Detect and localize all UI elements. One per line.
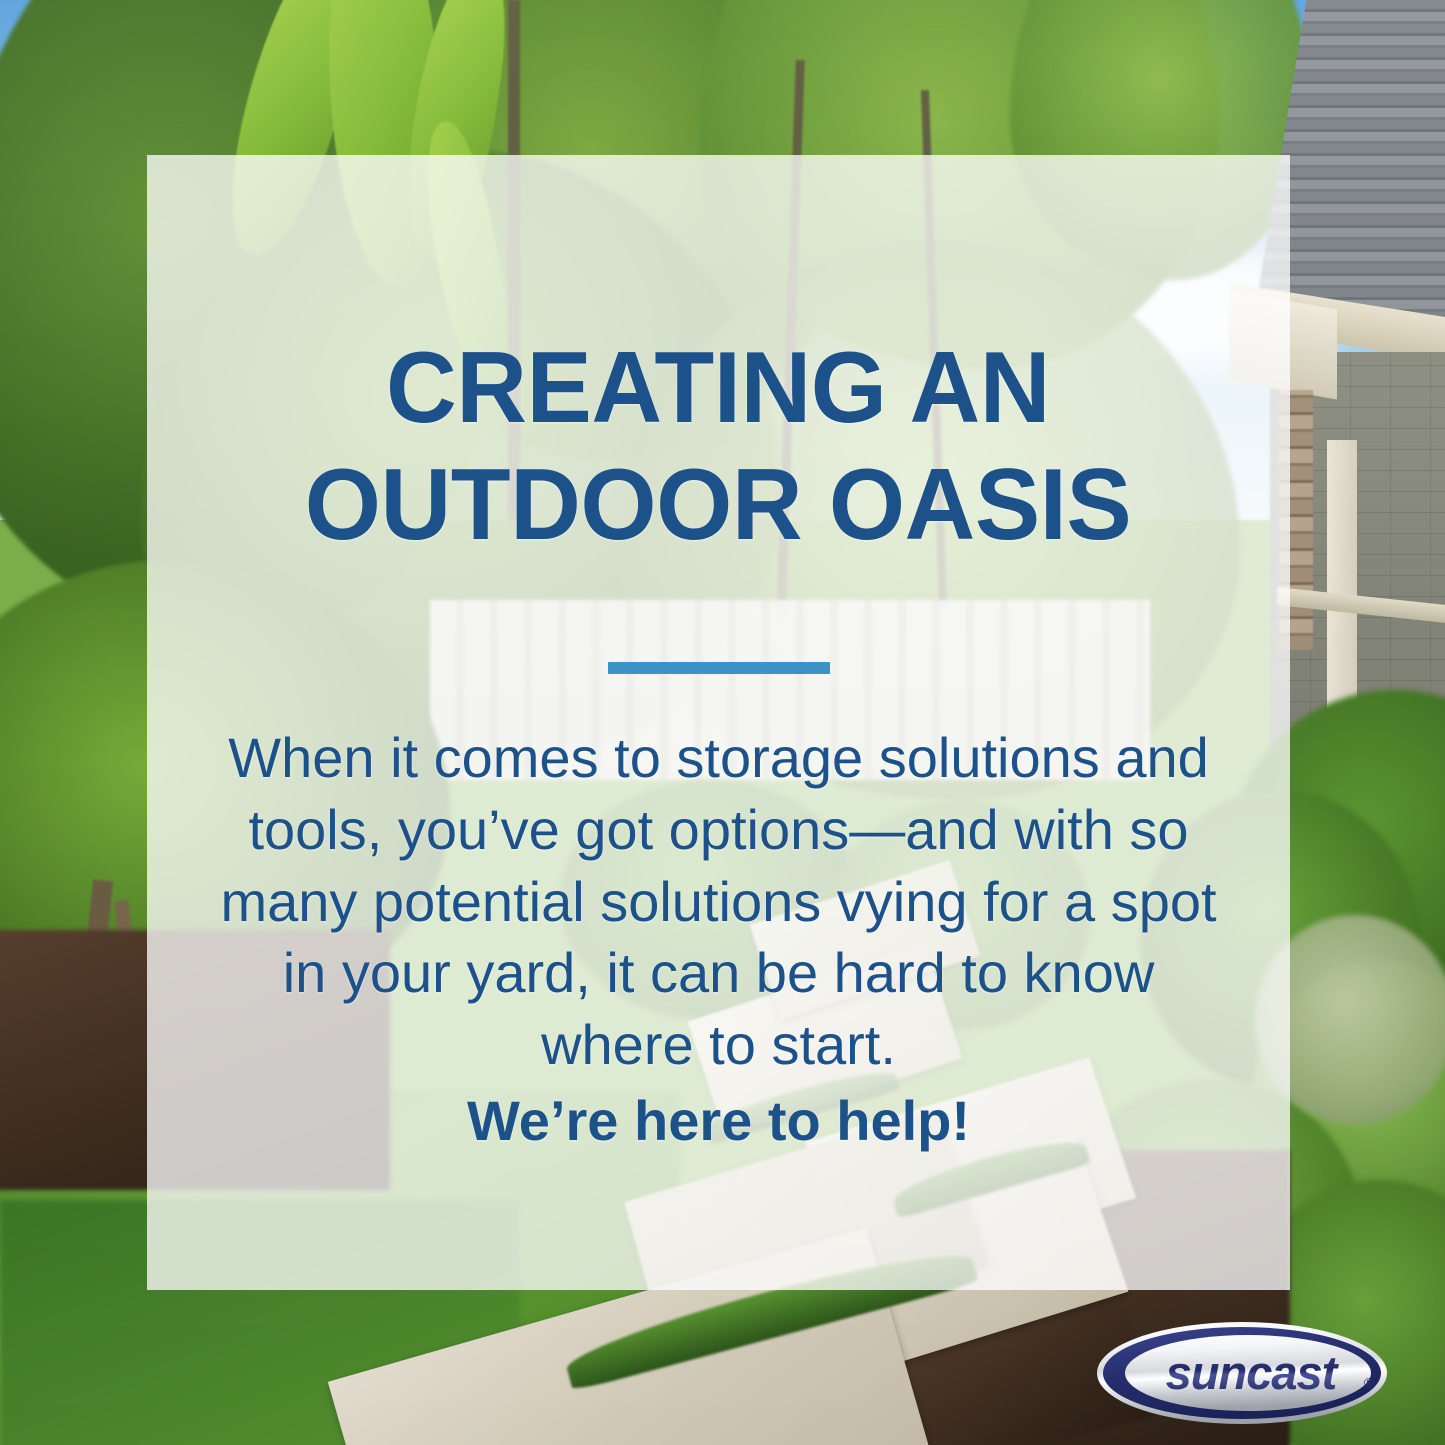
body-paragraph: When it comes to storage solutions and t…: [214, 674, 1224, 1156]
svg-text:suncast: suncast: [1166, 1346, 1340, 1399]
suncast-logo[interactable]: suncast ®: [1096, 1321, 1388, 1425]
page-title: CREATING AN OUTDOOR OASIS: [305, 155, 1132, 564]
body-text: When it comes to storage solutions and t…: [220, 726, 1216, 1076]
window-trim: [1327, 440, 1357, 710]
social-graphic-canvas: CREATING AN OUTDOOR OASIS When it comes …: [0, 0, 1445, 1445]
content-block: CREATING AN OUTDOOR OASIS When it comes …: [147, 155, 1290, 1290]
svg-text:®: ®: [1364, 1375, 1374, 1390]
divider-rule: [608, 662, 830, 674]
cta-text: We’re here to help!: [214, 1081, 1224, 1157]
headline-line-1: CREATING AN: [386, 332, 1050, 444]
headline-line-2: OUTDOOR OASIS: [305, 449, 1132, 561]
